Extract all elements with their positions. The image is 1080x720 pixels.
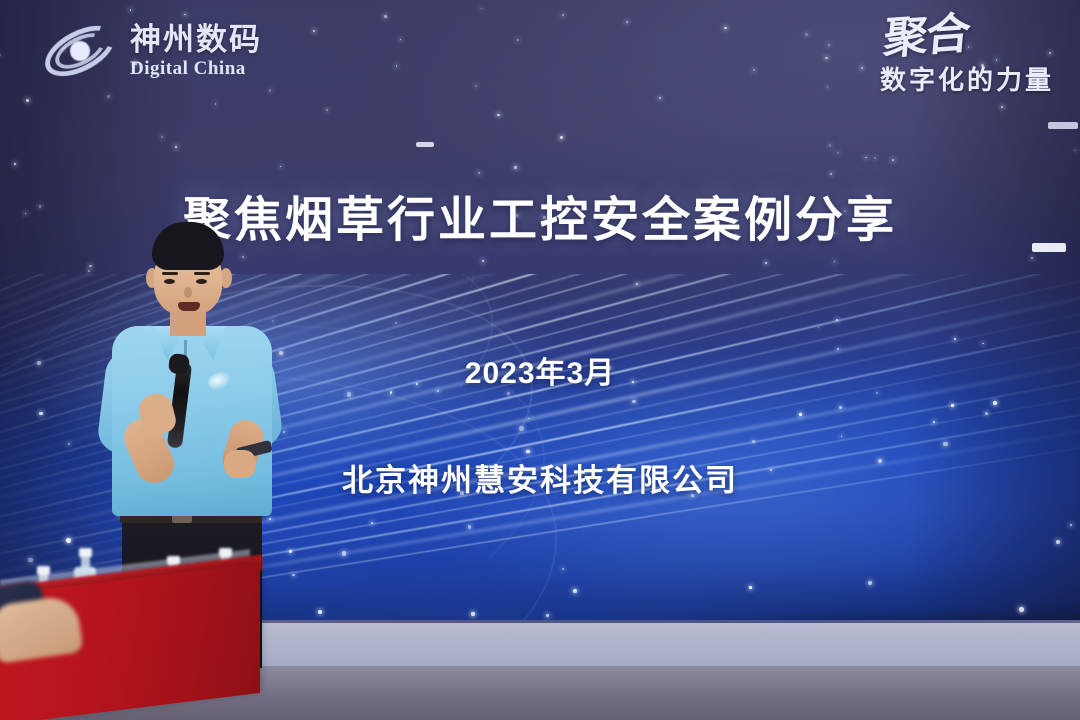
digital-china-swirl-logo-icon [38,14,122,88]
speaker-neck [170,312,206,336]
speaker-eyebrow-left [162,272,178,275]
brand-name-en: Digital China [130,59,262,78]
event-tagline: 数字化的力量 [880,60,1054,97]
speaker-eye-left [164,279,175,284]
speaker-eyebrow-right [194,272,210,275]
conference-stage-photo: 神州数码 Digital China 聚合 数字化的力量 聚焦烟草行业工控安全案… [0,0,1080,720]
speaker-nose [184,287,192,298]
speaker-mouth [178,302,200,311]
event-logo-calligraphy: 聚合 [878,13,970,61]
brand-name-cn: 神州数码 [130,24,262,55]
speaker-hair [152,222,224,270]
digital-china-logo: 神州数码 Digital China [38,14,262,88]
event-logo: 聚合 数字化的力量 [880,16,1054,97]
speaker-right-hand [224,450,256,478]
speaker-eye-right [196,279,207,284]
